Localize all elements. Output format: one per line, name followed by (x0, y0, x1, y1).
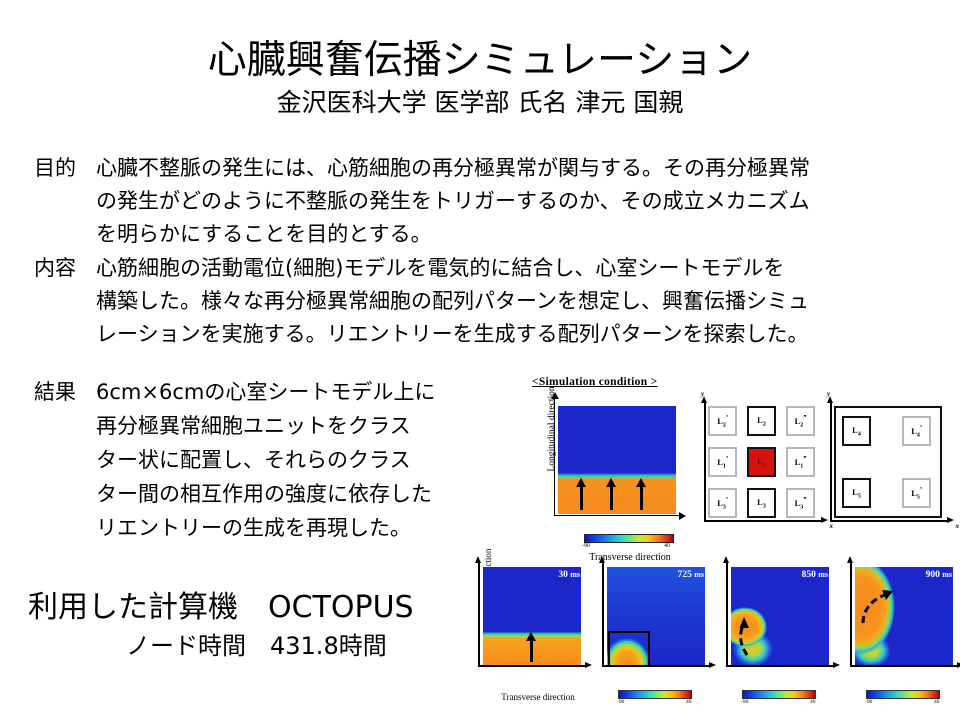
frame4-timestamp: 900 ms (926, 570, 952, 580)
cluster-cell-label: L3 (757, 497, 766, 510)
frame-900ms: 900 ms -90 40 (846, 562, 958, 678)
cluster1-grid: L2’ L2 L2’’ L1’ L1 L1’’ L3’ L3 L3’’ (708, 406, 816, 518)
cluster-cell-label: L4’ (911, 424, 922, 439)
machine-hours-label: ノード時間 (126, 632, 246, 660)
section-results-text: 6cm×6cmの心室シートモデル上に 再分極異常細胞ユニットをクラス ター状に配… (96, 375, 504, 545)
stimulus-arrow-1 (580, 486, 583, 510)
frame4-colorbar-max: 40 (934, 699, 940, 705)
cluster-cell-L1[interactable]: L1 (747, 447, 776, 477)
frame4-colorbar-min: -90 (865, 699, 872, 705)
frame-725ms: 725 ms -90 40 (598, 562, 710, 678)
frame4-heatmap (855, 567, 953, 665)
frame3-time-value: 850 (802, 570, 816, 580)
frame1-time-value: 30 (558, 570, 568, 580)
sheet-heatmap (558, 406, 676, 514)
cluster2-grid: L4 L4’ L5 L5’ (834, 406, 942, 518)
section-purpose-text: 心臓不整脈の発生には、心筋細胞の再分極異常が関与する。その再分極異常 の発生がど… (96, 152, 934, 251)
cluster2-x-axis (830, 520, 948, 522)
frame4-y-axis (850, 562, 852, 666)
frame4-colorbar (866, 690, 940, 699)
section-content-line-3: レーションを実施する。リエントリーを生成する配列パターンを探索した。 (96, 318, 934, 351)
cluster-cell-L3[interactable]: L3 (747, 488, 776, 518)
section-results-line-2: 再分極異常細胞ユニットをクラス (96, 409, 504, 443)
frame3-heatmap (731, 567, 829, 665)
cluster-cell-L5[interactable]: L5 (842, 478, 871, 508)
frame3-x-axis (726, 665, 834, 667)
sheet-y-axis-label: Longitudinal direction (547, 381, 557, 477)
frame1-y-axis (478, 562, 480, 666)
cluster-cell-label: L2’ (717, 414, 728, 429)
machine-name: OCTOPUS (268, 590, 414, 625)
cluster-cell-L1p[interactable]: L1’ (708, 447, 737, 477)
cluster-cell-label: L4 (852, 425, 861, 438)
section-content-label: 内容 (34, 252, 96, 285)
frame3-timestamp: 850 ms (802, 570, 828, 580)
section-results-label: 結果 (34, 375, 96, 409)
frame3-colorbar-max: 40 (810, 699, 816, 705)
title-block: 心臓興奮伝播シミュレーション 金沢医科大学 医学部 氏名 津元 国親 (0, 40, 960, 118)
cluster-cell-label: L3’’ (795, 496, 807, 511)
frame2-colorbar-min: -90 (617, 699, 624, 705)
stimulus-arrow-2 (610, 486, 613, 510)
machine-label: 利用した計算機 (28, 590, 238, 625)
frame4-time-unit: ms (942, 570, 952, 579)
page-title: 心臓興奮伝播シミュレーション (0, 40, 960, 82)
section-purpose-line-1: 心臓不整脈の発生には、心筋細胞の再分極異常が関与する。その再分極異常 (96, 152, 934, 185)
frame2-time-value: 725 (678, 570, 692, 580)
section-results-line-3: ター状に配置し、それらのクラス (96, 443, 504, 477)
section-content-text: 心筋細胞の活動電位(細胞)モデルを電気的に結合し、心室シートモデルを 構築した。… (96, 252, 934, 351)
section-results-line-1: 6cm×6cmの心室シートモデル上に (96, 375, 504, 409)
section-results: 結果 6cm×6cmの心室シートモデル上に 再分極異常細胞ユニットをクラス ター… (34, 375, 504, 546)
machine-block: 利用した計算機OCTOPUS ノード時間431.8時間 (28, 588, 498, 664)
frame2-colorbar-max: 40 (686, 699, 692, 705)
sheet-colorbar-min: -90 (582, 543, 590, 549)
cluster-cell-L2p[interactable]: L2’ (708, 406, 737, 436)
affiliation-line: 金沢医科大学 医学部 氏名 津元 国親 (0, 89, 960, 118)
frame1-propagation-arrow (530, 640, 533, 662)
cluster-cell-label: L2’’ (795, 414, 807, 429)
cluster1-y-axis (704, 402, 706, 522)
frame3-reentry-arrow (731, 567, 829, 665)
cluster-cell-label: L5’ (911, 486, 922, 501)
figure-simulation-condition: <Simulation condition > Longitudinal dir… (506, 376, 954, 544)
cluster-cell-L2pp[interactable]: L2’’ (786, 406, 815, 436)
cluster1-x-axis (704, 520, 822, 522)
frame3-y-axis (726, 562, 728, 666)
frame2-y-axis (602, 562, 604, 666)
cluster-cell-label: L1 (757, 456, 766, 469)
frame2-roi-box (608, 631, 650, 665)
cluster2-x-axis-label: x (956, 522, 960, 530)
cluster-panel-1: y x L2’ L2 L2’’ L1’ L1 L1’’ L3’ L3 L3’’ (702, 400, 824, 538)
frame1-time-unit: ms (570, 570, 580, 579)
slide-root: 心臓興奮伝播シミュレーション 金沢医科大学 医学部 氏名 津元 国親 目的 心臓… (0, 0, 960, 720)
machine-hours: ノード時間431.8時間 (126, 628, 498, 664)
sheet-colorbar (584, 534, 674, 543)
cluster-cell-L3pp[interactable]: L3’’ (786, 488, 815, 518)
section-content-line-1: 心筋細胞の活動電位(細胞)モデルを電気的に結合し、心室シートモデルを (96, 252, 934, 285)
section-content-line-2: 構築した。様々な再分極異常細胞の配列パターンを想定し、興奮伝播シミュ (96, 285, 934, 318)
frame3-colorbar (742, 690, 816, 699)
frame4-x-axis (850, 665, 958, 667)
body-sections: 目的 心臓不整脈の発生には、心筋細胞の再分極異常が関与する。その再分極異常 の発… (34, 152, 934, 352)
sheet-model-panel: Longitudinal direction -90 40 Transverse… (532, 398, 692, 538)
cluster-cell-L3p[interactable]: L3’ (708, 488, 737, 518)
section-purpose-line-3: を明らかにすることを目的とする。 (96, 218, 934, 251)
cluster-cell-L1pp[interactable]: L1’’ (786, 447, 815, 477)
frame2-timestamp: 725 ms (678, 570, 704, 580)
frame4-reentry-arrow (855, 567, 953, 665)
frame1-x-axis-label: Transverse direction (478, 692, 598, 702)
cluster-cell-L4[interactable]: L4 (842, 416, 871, 446)
figure-time-frames: Longitudinal direction 30 ms Transverse … (462, 556, 960, 714)
frame2-x-axis (602, 665, 710, 667)
frame2-heatmap (607, 567, 705, 665)
sheet-x-axis (554, 515, 680, 516)
frame-30ms: Longitudinal direction 30 ms Transverse … (474, 562, 586, 678)
section-purpose-label: 目的 (34, 152, 96, 185)
machine-headline: 利用した計算機OCTOPUS (28, 588, 498, 628)
cluster1-y-axis-label: y (701, 390, 704, 398)
cluster-cell-L4p[interactable]: L4’ (902, 416, 931, 446)
frame3-time-unit: ms (818, 570, 828, 579)
frame-850ms: 850 ms -90 40 (722, 562, 834, 678)
cluster2-y-axis-label: y (827, 390, 830, 398)
cluster-cell-label: L2 (757, 415, 766, 428)
cluster-cell-L5p[interactable]: L5’ (902, 478, 931, 508)
frame1-timestamp: 30 ms (558, 570, 580, 580)
frame1-x-axis (478, 665, 586, 667)
cluster-cell-L2[interactable]: L2 (747, 406, 776, 436)
cluster-panel-2: y x L4 L4’ L5 L5’ (828, 400, 950, 538)
frame4-time-value: 900 (926, 570, 940, 580)
section-results-line-4: ター間の相互作用の強度に依存した (96, 477, 504, 511)
cluster-cell-label: L1’ (717, 455, 728, 470)
frame3-colorbar-min: -90 (741, 699, 748, 705)
stimulus-arrow-3 (640, 486, 643, 510)
cluster-cell-label: L1’’ (795, 455, 807, 470)
sheet-colorbar-max: 40 (664, 543, 670, 549)
section-content: 内容 心筋細胞の活動電位(細胞)モデルを電気的に結合し、心室シートモデルを 構築… (34, 252, 934, 351)
frame2-colorbar (618, 690, 692, 699)
section-results-line-5: リエントリーの生成を再現した。 (96, 511, 504, 545)
section-purpose: 目的 心臓不整脈の発生には、心筋細胞の再分極異常が関与する。その再分極異常 の発… (34, 152, 934, 251)
cluster2-y-axis (830, 402, 832, 522)
machine-hours-value: 431.8時間 (270, 632, 387, 660)
section-purpose-line-2: の発生がどのように不整脈の発生をトリガーするのか、その成立メカニズム (96, 185, 934, 218)
cluster-cell-label: L5 (852, 487, 861, 500)
cluster-cell-label: L3’ (717, 496, 728, 511)
frame2-time-unit: ms (694, 570, 704, 579)
